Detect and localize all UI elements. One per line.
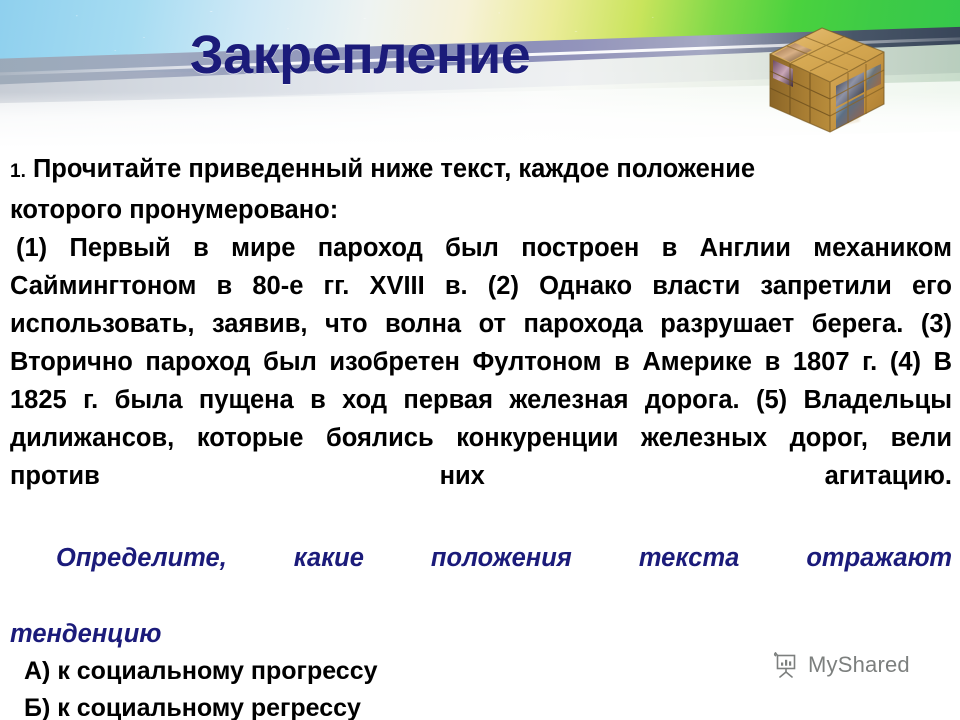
presentation-easel-chart-icon — [772, 650, 802, 680]
presentation-slide: Закрепление 1. Прочитайте приведенный ни… — [0, 0, 960, 720]
task-number: 1. — [10, 161, 26, 182]
question-prompt-line2: тенденцию — [10, 620, 161, 648]
reading-passage: (1) Первый в мире пароход был построен в… — [10, 229, 952, 533]
golden-photo-cube — [752, 8, 902, 140]
question-prompt: Определите, какие положения текста отраж… — [10, 539, 952, 653]
slide-title: Закрепление — [0, 28, 720, 82]
answer-option-b[interactable]: Б) к социальному регрессу — [10, 690, 952, 720]
task-intro-line2: которого пронумеровано: — [10, 191, 952, 229]
task-intro: 1. Прочитайте приведенный ниже текст, ка… — [10, 150, 952, 191]
task-intro-line1: Прочитайте приведенный ниже текст, каждо… — [26, 155, 755, 183]
myshared-brand-text: MyShared — [808, 652, 910, 678]
question-prompt-line1: Определите, какие положения текста отраж… — [10, 544, 952, 610]
slide-body: 1. Прочитайте приведенный ниже текст, ка… — [10, 150, 952, 720]
myshared-watermark: MyShared — [772, 650, 910, 680]
